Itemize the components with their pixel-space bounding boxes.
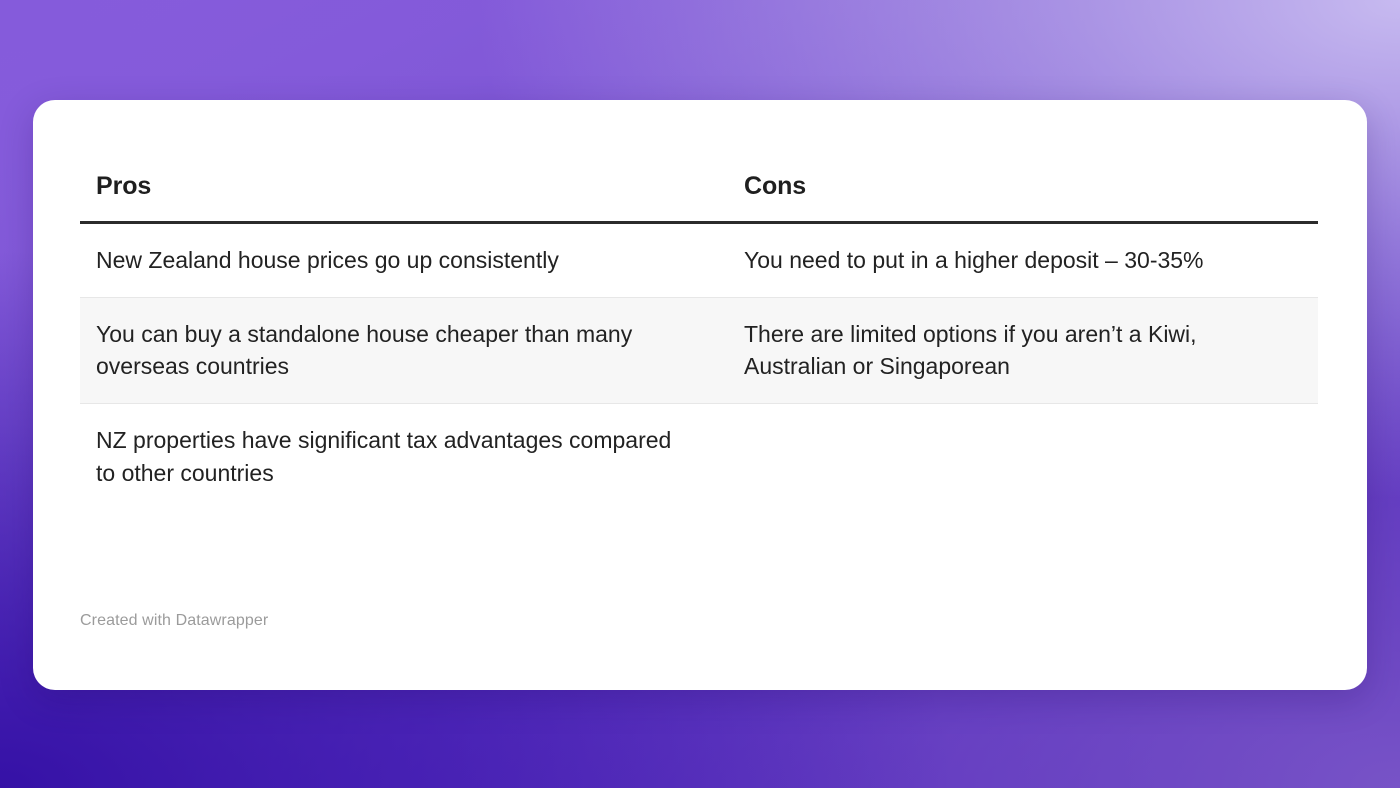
cell-cons: You need to put in a higher deposit – 30… (722, 223, 1318, 298)
comparison-table-container: Pros Cons New Zealand house prices go up… (80, 172, 1318, 509)
background-gradient: Pros Cons New Zealand house prices go up… (0, 0, 1400, 788)
chart-card: Pros Cons New Zealand house prices go up… (33, 100, 1367, 690)
cell-cons: There are limited options if you aren’t … (722, 297, 1318, 403)
datawrapper-credit[interactable]: Created with Datawrapper (80, 612, 268, 630)
table-body: New Zealand house prices go up consisten… (80, 223, 1318, 510)
table-row: NZ properties have significant tax advan… (80, 403, 1318, 509)
column-header-cons: Cons (722, 172, 1318, 223)
cell-pros: You can buy a standalone house cheaper t… (80, 297, 722, 403)
table-row: You can buy a standalone house cheaper t… (80, 297, 1318, 403)
table-header-row: Pros Cons (80, 172, 1318, 223)
column-header-pros: Pros (80, 172, 722, 223)
table-header: Pros Cons (80, 172, 1318, 223)
cell-pros: NZ properties have significant tax advan… (80, 403, 722, 509)
cell-cons (722, 403, 1318, 509)
cell-pros: New Zealand house prices go up consisten… (80, 223, 722, 298)
table-row: New Zealand house prices go up consisten… (80, 223, 1318, 298)
pros-cons-table: Pros Cons New Zealand house prices go up… (80, 172, 1318, 509)
